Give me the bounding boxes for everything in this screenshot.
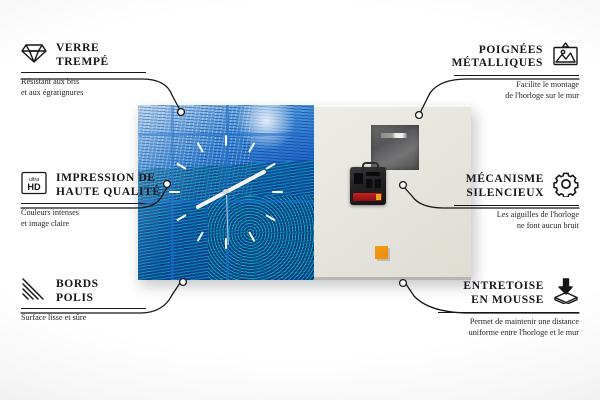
arrow-down-onto-pad-icon — [553, 278, 579, 309]
clock-tick-9 — [169, 191, 180, 193]
clock-hand-cap — [223, 189, 228, 194]
callout-print-quality-rule — [21, 203, 146, 204]
callout-foam-spacer: ENTRETOISE EN MOUSSE Permet de maintenir… — [438, 278, 579, 338]
ultra-hd-icon: ultra HD — [21, 171, 47, 200]
callout-metal-handles: POIGNÉES MÉTALLIQUES Facilite le montage… — [454, 42, 579, 101]
framed-picture-icon — [552, 42, 579, 72]
clock-tick-12 — [225, 135, 227, 146]
battery-positive-terminal — [376, 194, 381, 200]
callout-print-quality-desc-1: Couleurs intenses — [21, 208, 146, 219]
foam-spacer — [375, 246, 388, 259]
callout-print-quality-title: IMPRESSION DE HAUTE QUALITÉ — [56, 172, 161, 199]
mechanism-detail-b — [366, 172, 380, 176]
callout-tempered-glass-title: VERRE TREMPÉ — [56, 42, 109, 69]
callout-metal-handles-desc-2: de l'horloge sur le mur — [454, 91, 579, 102]
callout-silent-mechanism-rule — [454, 205, 579, 206]
mechanism-detail-a — [354, 173, 363, 184]
callout-foam-spacer-head: ENTRETOISE EN MOUSSE — [438, 278, 579, 309]
mechanism-hanging-tab — [362, 162, 379, 171]
callout-polished-edges-title: BORDS POLIS — [56, 278, 99, 305]
product-infographic: VERRE TREMPÉ Résistant aux bris et aux é… — [0, 0, 600, 400]
hanger-keyhole-slot — [381, 133, 407, 138]
callout-print-quality-head: ultra HD IMPRESSION DE HAUTE QUALITÉ — [21, 171, 146, 200]
callout-polished-edges-head: BORDS POLIS — [21, 278, 146, 305]
clock-battery — [353, 193, 382, 201]
clock-mechanism — [350, 167, 386, 205]
diamond-icon — [21, 42, 47, 69]
callout-metal-handles-desc-1: Facilite le montage — [454, 80, 579, 91]
callout-silent-mechanism-title: MÉCANISME SILENCIEUX — [466, 173, 544, 200]
back-panel-top-edge — [314, 105, 471, 107]
callout-silent-mechanism-desc-1: Les aiguilles de l'horloge — [454, 210, 579, 221]
clock-pattern-highlight — [237, 105, 297, 151]
mechanism-detail-d — [375, 179, 381, 188]
callout-metal-handles-title: POIGNÉES MÉTALLIQUES — [452, 44, 543, 71]
clock-face-panel — [138, 105, 314, 280]
clock-tick-3 — [272, 191, 283, 193]
callout-metal-handles-rule — [454, 75, 579, 76]
callout-print-quality: ultra HD IMPRESSION DE HAUTE QUALITÉ Cou… — [21, 171, 146, 229]
svg-text:HD: HD — [27, 182, 41, 192]
mechanism-detail-c — [366, 179, 372, 188]
callout-print-quality-desc-2: et image claire — [21, 219, 146, 230]
callout-silent-mechanism-head: MÉCANISME SILENCIEUX — [454, 171, 579, 202]
callout-tempered-glass-head: VERRE TREMPÉ — [21, 42, 146, 69]
callout-foam-spacer-desc-2: uniforme entre l'horloge et le mur — [438, 328, 579, 339]
diagonal-lines-icon — [21, 278, 47, 305]
callout-tempered-glass: VERRE TREMPÉ Résistant aux bris et aux é… — [21, 42, 146, 98]
gear-icon — [553, 171, 579, 202]
callout-foam-spacer-title: ENTRETOISE EN MOUSSE — [463, 280, 544, 307]
product-photo — [138, 105, 471, 280]
callout-tempered-glass-rule — [21, 72, 146, 73]
callout-silent-mechanism: MÉCANISME SILENCIEUX Les aiguilles de l'… — [454, 171, 579, 231]
callout-silent-mechanism-desc-2: ne font aucun bruit — [454, 221, 579, 232]
callout-tempered-glass-desc-1: Résistant aux bris — [21, 77, 146, 88]
callout-tempered-glass-desc-2: et aux égratignures — [21, 88, 146, 99]
clock-back-panel — [314, 105, 471, 280]
callout-metal-handles-head: POIGNÉES MÉTALLIQUES — [454, 42, 579, 72]
callout-foam-spacer-desc-1: Permet de maintenir une distance — [438, 317, 579, 328]
callout-polished-edges: BORDS POLIS Surface lisse et sûre — [21, 278, 146, 324]
callout-polished-edges-rule — [21, 308, 146, 309]
callout-foam-spacer-rule — [438, 312, 579, 313]
callout-polished-edges-desc-1: Surface lisse et sûre — [21, 313, 146, 324]
